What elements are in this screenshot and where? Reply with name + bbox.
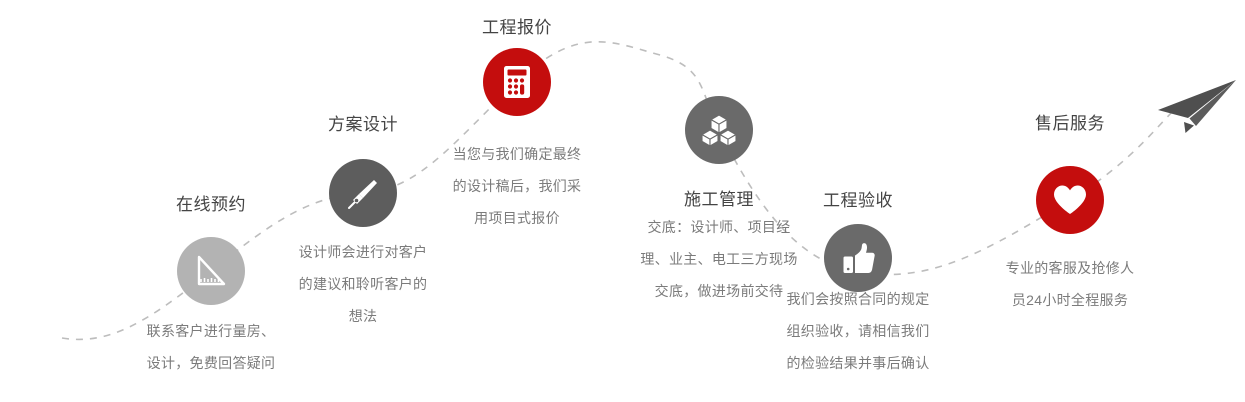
step-description: 联系客户进行量房、设计，免费回答疑问 [146,315,276,379]
step-icon-circle-calculator[interactable] [483,48,551,116]
step-icon-circle-heart[interactable] [1036,166,1104,234]
step-description: 交底：设计师、项目经理、业主、电工三方现场交底，做进场前交待 [638,211,800,307]
triangle-ruler-icon [191,251,231,291]
step-description: 设计师会进行对客户的建议和聆听客户的想法 [298,236,428,332]
paper-plane-icon [1148,78,1240,140]
heart-icon [1051,182,1089,218]
step-title: 方案设计 [328,114,398,135]
step-title: 工程验收 [823,190,893,211]
step-title: 在线预约 [176,194,246,215]
calculator-icon [499,63,535,101]
thumbs-up-icon [839,239,877,277]
process-flow-infographic: 在线预约 联系客户进行量房、设计，免费回答疑问 方案设计 设计师会进行对客户的建… [0,0,1245,402]
step-title: 工程报价 [482,17,552,38]
step-description: 当您与我们确定最终的设计稿后，我们采用项目式报价 [452,138,582,234]
step-icon-circle-cubes[interactable] [685,96,753,164]
cubes-icon [699,111,739,149]
step-description: 我们会按照合同的规定组织验收，请相信我们的检验结果并事后确认 [785,283,931,379]
step-icon-circle-pen[interactable] [329,159,397,227]
paper-plane-marker [1148,78,1240,145]
step-title: 售后服务 [1035,113,1105,134]
step-icon-circle-thumbs-up[interactable] [824,224,892,292]
pen-nib-icon [344,174,382,212]
step-title: 施工管理 [684,189,754,210]
step-description: 专业的客服及抢修人员24小时全程服务 [1000,252,1140,316]
step-icon-circle-ruler[interactable] [177,237,245,305]
